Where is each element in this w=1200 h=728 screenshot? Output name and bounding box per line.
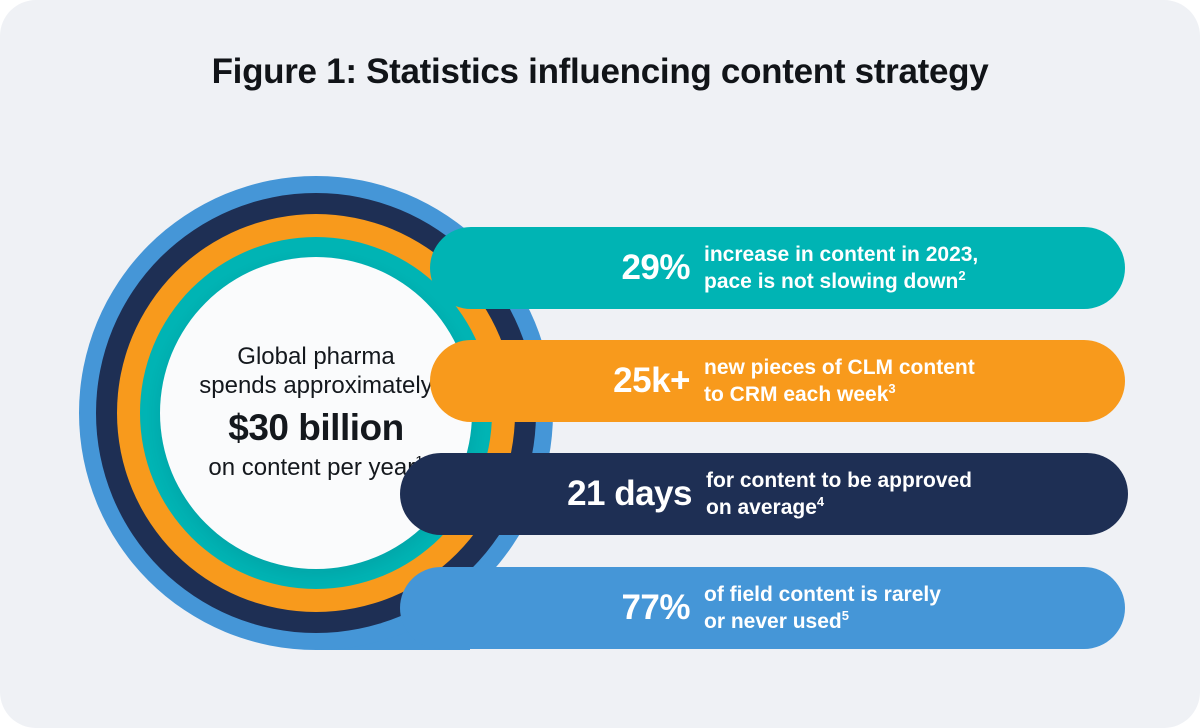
center-line-3: on content per year1 [208, 453, 423, 482]
stat-footnote-29: 2 [958, 268, 965, 283]
page-title: Figure 1: Statistics influencing content… [0, 52, 1200, 92]
stat-desc-line1-25k: new pieces of CLM content [704, 356, 975, 379]
stat-footnote-21days: 4 [817, 494, 824, 509]
infographic-card: Figure 1: Statistics influencing content… [0, 0, 1200, 728]
stat-bar-unused-content[interactable]: 77% of field content is rarely or never … [400, 567, 1125, 649]
center-line-3-text: on content per year [208, 454, 415, 481]
stat-description-25k: new pieces of CLM content to CRM each we… [704, 355, 975, 407]
stat-bar-clm-content[interactable]: 25k+ new pieces of CLM content to CRM ea… [430, 340, 1125, 422]
stat-bar-content-increase[interactable]: 29% increase in content in 2023, pace is… [430, 227, 1125, 309]
stat-desc-line2-21days: on average [706, 496, 817, 519]
stat-desc-line1-29: increase in content in 2023, [704, 243, 978, 266]
stat-description-21days: for content to be approved on average4 [706, 468, 972, 520]
stat-description-29: increase in content in 2023, pace is not… [704, 242, 978, 294]
stat-value-77: 77% [400, 588, 690, 628]
stat-desc-line1-21days: for content to be approved [706, 469, 972, 492]
stat-desc-line2-29: pace is not slowing down [704, 270, 958, 293]
stat-bar-approval-time[interactable]: 21 days for content to be approved on av… [400, 453, 1128, 535]
stat-value-29: 29% [430, 248, 690, 288]
stat-value-25k: 25k+ [430, 361, 690, 401]
stat-footnote-77: 5 [842, 608, 849, 623]
stat-description-77: of field content is rarely or never used… [704, 582, 941, 634]
center-line-2: spends approximately [199, 372, 432, 400]
center-highlight: $30 billion [228, 406, 403, 450]
center-line-1: Global pharma [237, 343, 394, 371]
stat-desc-line2-77: or never used [704, 610, 842, 633]
stat-desc-line1-77: of field content is rarely [704, 583, 941, 606]
stat-desc-line2-25k: to CRM each week [704, 383, 888, 406]
stat-footnote-25k: 3 [888, 381, 895, 396]
stat-value-21days: 21 days [400, 474, 692, 514]
